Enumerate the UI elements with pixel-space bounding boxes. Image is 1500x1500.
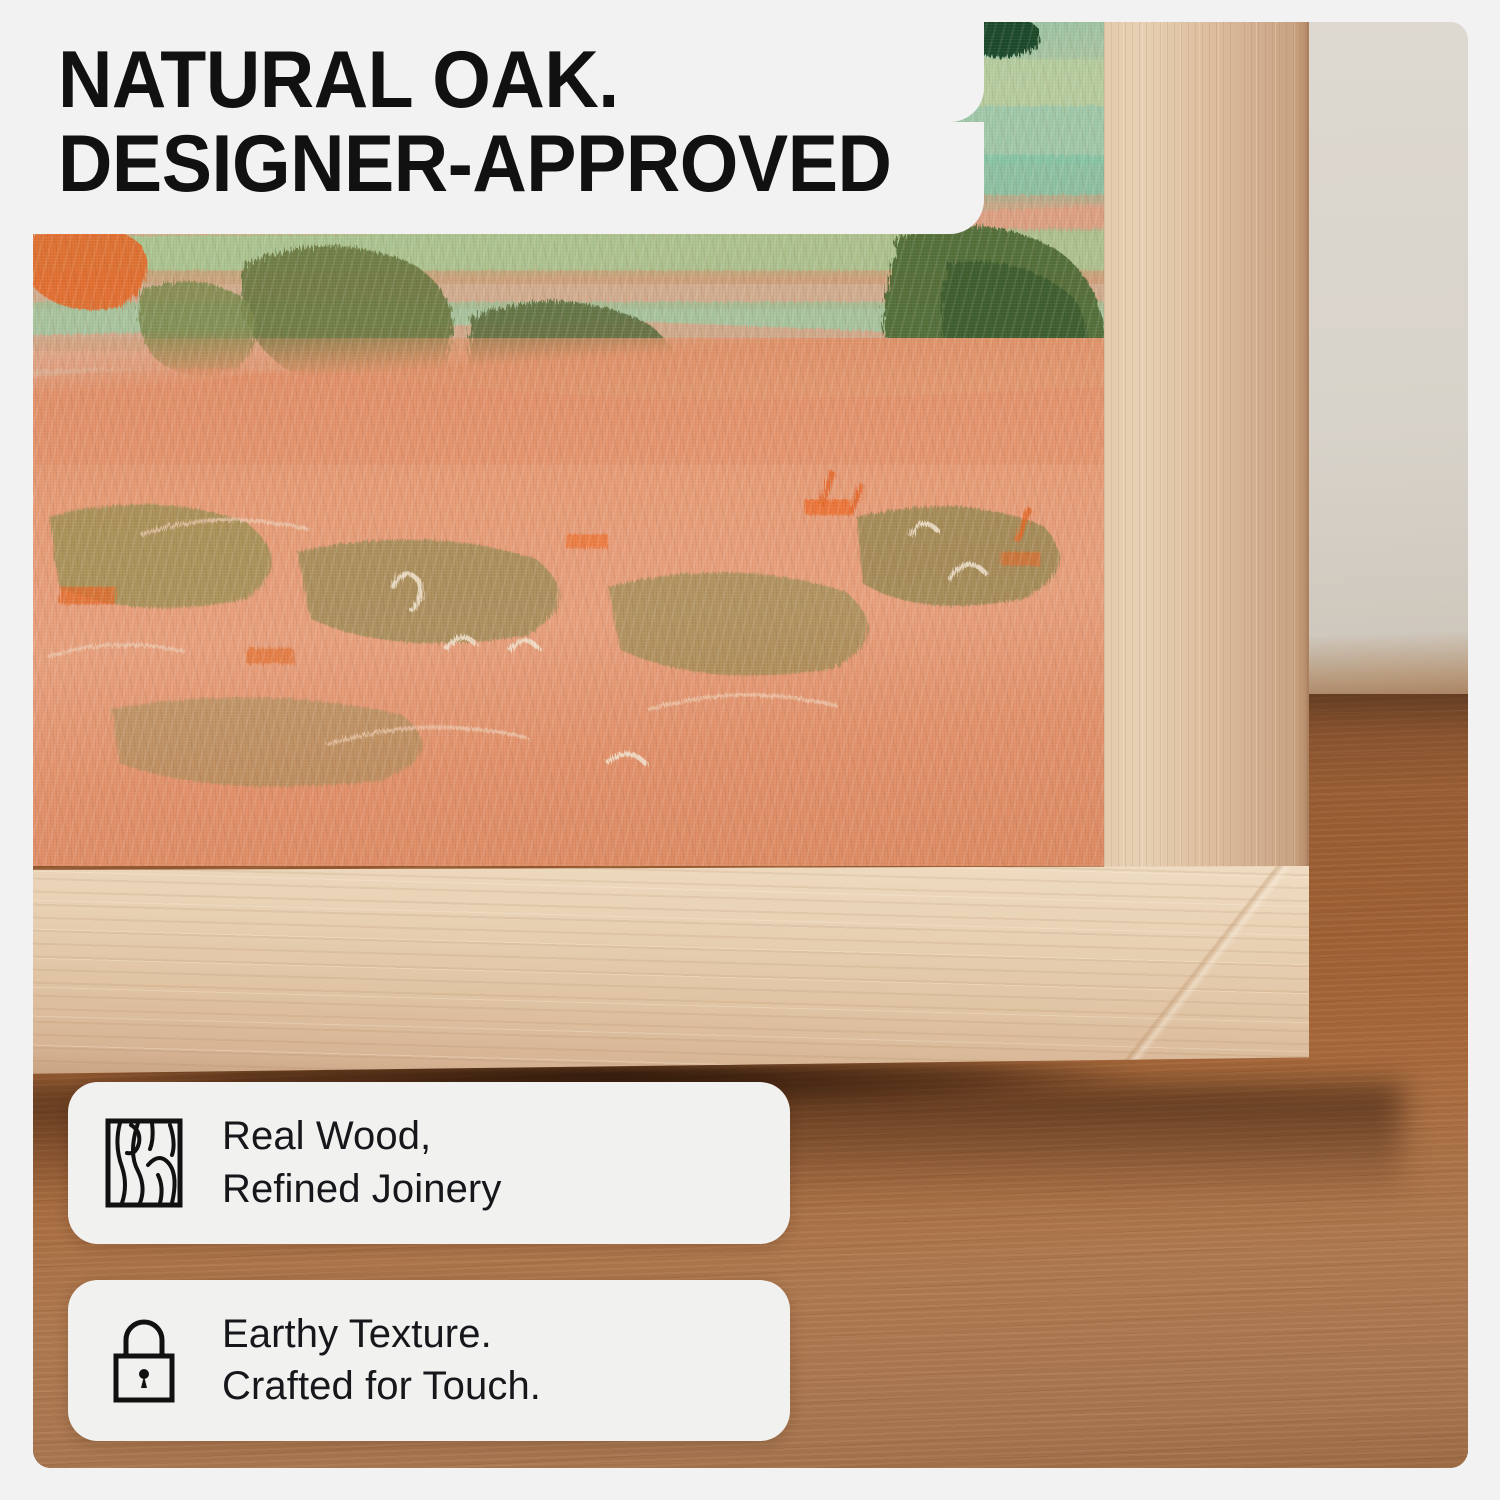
- headline-line-2-row: DESIGNER-APPROVED: [0, 122, 984, 234]
- wood-grain-icon: [98, 1117, 190, 1209]
- feature-badge-real-wood: Real Wood, Refined Joinery: [68, 1082, 790, 1244]
- feature-badge-real-wood-label: Real Wood, Refined Joinery: [222, 1110, 501, 1216]
- headline-line-1-row: NATURAL OAK.: [0, 0, 984, 122]
- frame-miter-joint: [1093, 866, 1309, 1074]
- frame-bottom-rail: [33, 866, 1309, 1074]
- headline-panel: NATURAL OAK. DESIGNER-APPROVED: [0, 0, 984, 234]
- product-feature-image: NATURAL OAK. DESIGNER-APPROVED: [0, 0, 1500, 1500]
- feature-badge-list: Real Wood, Refined Joinery Earthy Textur…: [68, 1082, 790, 1441]
- headline-line-2: DESIGNER-APPROVED: [58, 126, 891, 204]
- feature-badge-earthy-texture: Earthy Texture. Crafted for Touch.: [68, 1280, 790, 1442]
- padlock-icon: [98, 1314, 190, 1406]
- headline-line-1: NATURAL OAK.: [58, 42, 895, 120]
- feature-badge-earthy-texture-label: Earthy Texture. Crafted for Touch.: [222, 1308, 541, 1414]
